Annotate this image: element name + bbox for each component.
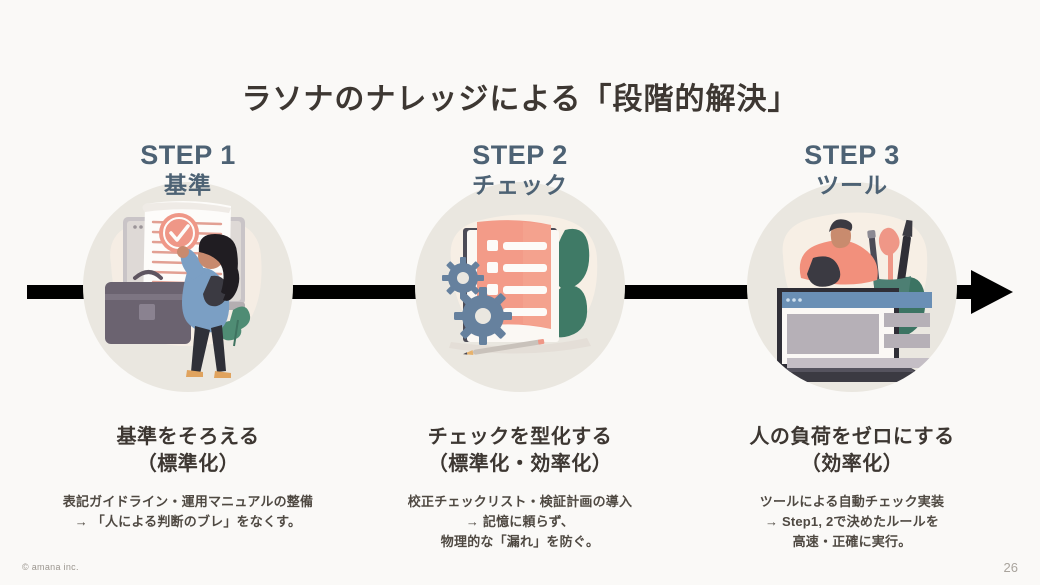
step-2-body-line-1: 校正チェックリスト・検証計画の導入 bbox=[350, 492, 690, 512]
step-3-caption: 人の負荷をゼロにする （効率化） bbox=[682, 424, 1022, 478]
step-3-description: ツールによる自動チェック実装 → Step1, 2で決めたルールを 高速・正確に… bbox=[682, 492, 1022, 552]
step-1-caption-line-1: 基準をそろえる bbox=[18, 424, 358, 451]
step-3-number: STEP 3 bbox=[682, 140, 1022, 170]
step-3-body-line-1: ツールによる自動チェック実装 bbox=[682, 492, 1022, 512]
step-3-caption-line-1: 人の負荷をゼロにする bbox=[682, 424, 1022, 451]
step-2-number: STEP 2 bbox=[350, 140, 690, 170]
step-1-description: 表記ガイドライン・運用マニュアルの整備 → 「人による判断のブレ」をなくす。 bbox=[18, 492, 358, 532]
step-2-caption-line-1: チェックを型化する bbox=[350, 424, 690, 451]
step-column-2: STEP 2 チェック bbox=[350, 140, 690, 552]
laptop-automation-tools-illustration bbox=[747, 182, 957, 392]
step-2-illustration-circle bbox=[415, 182, 625, 392]
step-1-word: 基準 bbox=[18, 170, 358, 200]
step-3-header: STEP 3 ツール bbox=[682, 140, 1022, 200]
step-1-body-line-1: 表記ガイドライン・運用マニュアルの整備 bbox=[18, 492, 358, 512]
steps-container: STEP 1 基準 bbox=[0, 0, 1040, 585]
step-1-body-line-2: → 「人による判断のブレ」をなくす。 bbox=[18, 512, 358, 532]
checklist-clipboard-gears-illustration bbox=[415, 182, 625, 392]
step-1-caption: 基準をそろえる （標準化） bbox=[18, 424, 358, 478]
step-1-illustration-circle bbox=[83, 182, 293, 392]
step-column-1: STEP 1 基準 bbox=[18, 140, 358, 532]
step-1-number: STEP 1 bbox=[18, 140, 358, 170]
step-1-caption-line-2: （標準化） bbox=[18, 451, 358, 478]
slide-canvas: ラソナのナレッジによる「段階的解決」 STEP 1 基準 bbox=[0, 0, 1040, 585]
step-2-description: 校正チェックリスト・検証計画の導入 → 記憶に頼らず、 物理的な「漏れ」を防ぐ。 bbox=[350, 492, 690, 552]
step-3-body-line-3: 高速・正確に実行。 bbox=[682, 532, 1022, 552]
copyright-notice: © amana inc. bbox=[22, 562, 79, 572]
step-2-caption: チェックを型化する （標準化・効率化） bbox=[350, 424, 690, 478]
step-2-caption-line-2: （標準化・効率化） bbox=[350, 451, 690, 478]
step-2-header: STEP 2 チェック bbox=[350, 140, 690, 200]
page-number: 26 bbox=[1004, 560, 1018, 575]
step-2-word: チェック bbox=[350, 170, 690, 200]
step-3-word: ツール bbox=[682, 170, 1022, 200]
step-3-caption-line-2: （効率化） bbox=[682, 451, 1022, 478]
step-3-body-line-2: → Step1, 2で決めたルールを bbox=[682, 512, 1022, 532]
person-checking-document-illustration bbox=[83, 182, 293, 392]
step-3-illustration-circle bbox=[747, 182, 957, 392]
step-2-body-line-3: 物理的な「漏れ」を防ぐ。 bbox=[350, 532, 690, 552]
step-column-3: STEP 3 ツール bbox=[682, 140, 1022, 552]
step-1-header: STEP 1 基準 bbox=[18, 140, 358, 200]
step-2-body-line-2: → 記憶に頼らず、 bbox=[350, 512, 690, 532]
